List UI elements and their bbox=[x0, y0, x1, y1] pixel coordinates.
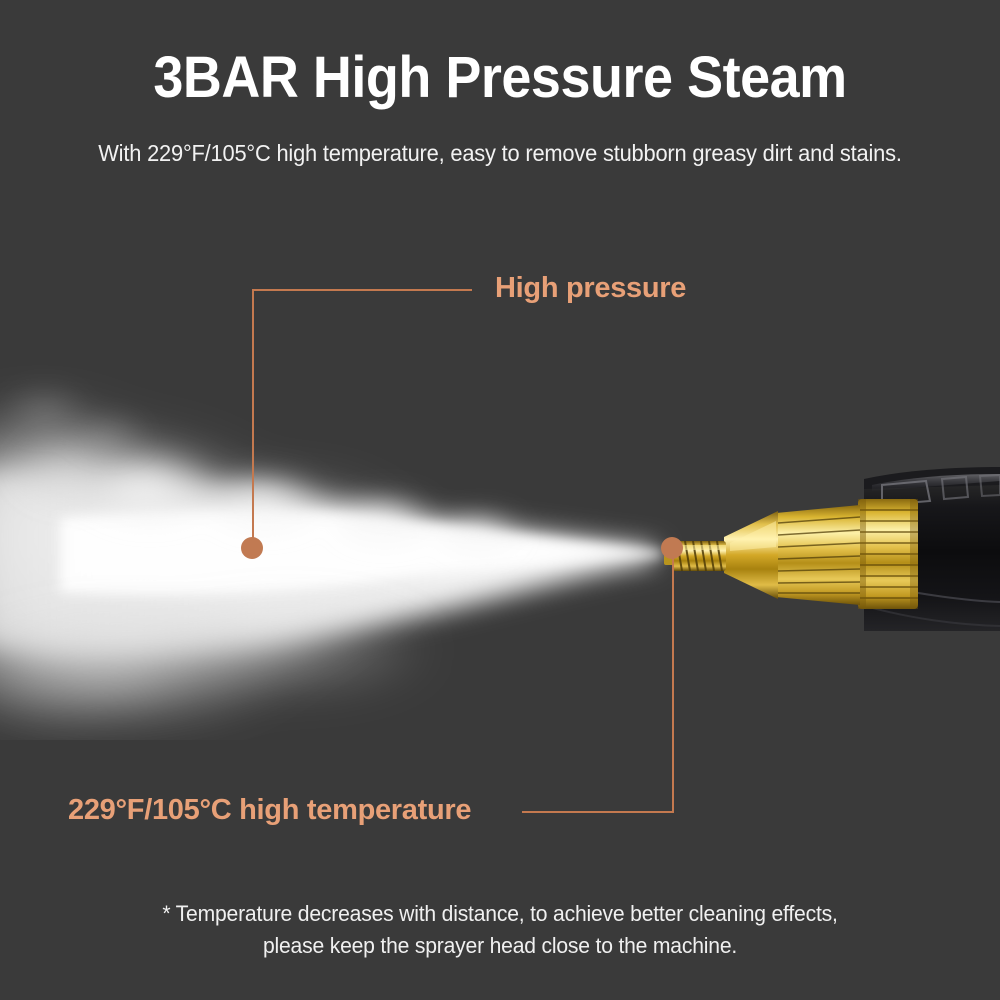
callout-dot-high-pressure bbox=[241, 537, 263, 559]
footnote: * Temperature decreases with distance, t… bbox=[20, 898, 980, 962]
product-feature-panel: 3BAR High Pressure Steam With 229°F/105°… bbox=[0, 0, 1000, 1000]
callout-label-temperature: 229°F/105°C high temperature bbox=[68, 794, 471, 827]
page-subtitle: With 229°F/105°C high temperature, easy … bbox=[25, 140, 975, 167]
callout-line-high-pressure-horizontal bbox=[252, 289, 472, 291]
footnote-line-1: * Temperature decreases with distance, t… bbox=[20, 898, 980, 930]
footnote-line-2: please keep the sprayer head close to th… bbox=[20, 930, 980, 962]
callout-line-temperature-vertical bbox=[672, 556, 674, 813]
page-title: 3BAR High Pressure Steam bbox=[35, 48, 965, 109]
callout-line-temperature-horizontal bbox=[522, 811, 674, 813]
brass-steam-nozzle bbox=[650, 455, 1000, 655]
callout-label-high-pressure: High pressure bbox=[495, 272, 686, 305]
callout-line-high-pressure-vertical bbox=[252, 289, 254, 545]
callout-dot-temperature bbox=[661, 537, 683, 559]
steam-plume bbox=[0, 340, 700, 740]
